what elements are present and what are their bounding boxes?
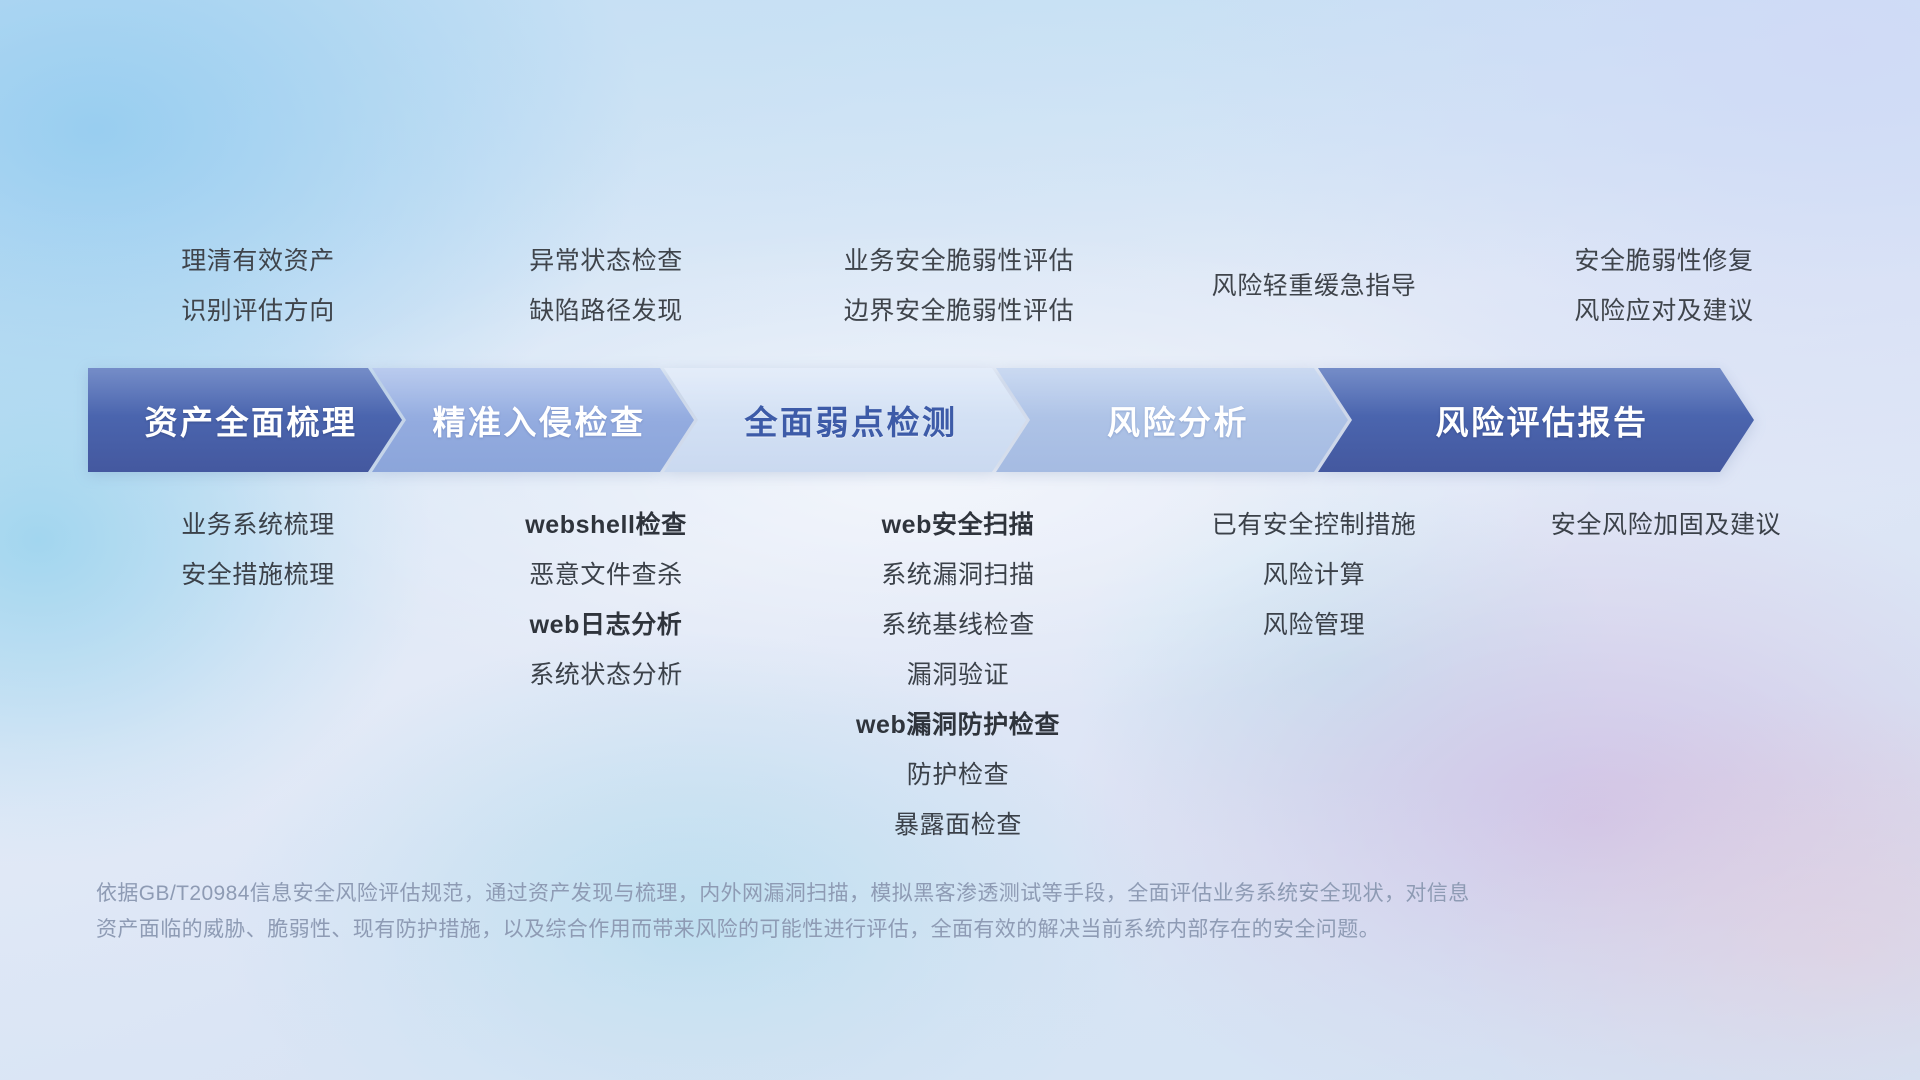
top-note: 业务安全脆弱性评估 — [844, 236, 1074, 286]
stage-chevron-asset-inventory[interactable]: 资产全面梳理 — [88, 368, 402, 472]
top-notes-col-asset-inventory: 理清有效资产 识别评估方向 — [84, 236, 432, 336]
diagram-content: 理清有效资产 识别评估方向 异常状态检查 缺陷路径发现 业务安全脆弱性评估 边界… — [0, 0, 1920, 1080]
bottom-items-col-assessment-report: 安全风险加固及建议 — [1492, 500, 1840, 550]
top-notes-col-intrusion-check: 异常状态检查 缺陷路径发现 — [432, 236, 780, 336]
stage-chevron-assessment-report[interactable]: 风险评估报告 — [1318, 368, 1754, 472]
list-item: 暴露面检查 — [894, 800, 1022, 850]
stage-label: 资产全面梳理 — [145, 396, 358, 444]
bottom-items-col-risk-analysis: 已有安全控制措施 风险计算 风险管理 — [1140, 500, 1488, 650]
list-item: 已有安全控制措施 — [1212, 500, 1417, 550]
bottom-items-col-weakness-detection: web安全扫描 系统漏洞扫描 系统基线检查 漏洞验证 web漏洞防护检查 防护检… — [784, 500, 1132, 850]
stage-label: 全面弱点检测 — [745, 396, 958, 444]
list-item: 系统基线检查 — [881, 600, 1035, 650]
list-item: 系统漏洞扫描 — [881, 550, 1035, 600]
top-note: 风险轻重缓急指导 — [1212, 261, 1417, 311]
list-item: 风险管理 — [1263, 600, 1365, 650]
top-note: 识别评估方向 — [181, 286, 335, 336]
list-item: 恶意文件查杀 — [529, 550, 683, 600]
top-notes-col-risk-analysis: 风险轻重缓急指导 — [1140, 261, 1488, 361]
list-item: 风险计算 — [1263, 550, 1365, 600]
list-item: web漏洞防护检查 — [856, 700, 1060, 750]
stage-chevron-intrusion-check[interactable]: 精准入侵检查 — [372, 368, 694, 472]
list-item: 漏洞验证 — [907, 650, 1009, 700]
list-item: 安全措施梳理 — [181, 550, 335, 600]
list-item: 安全风险加固及建议 — [1551, 500, 1781, 550]
stage-label: 精准入侵检查 — [433, 396, 646, 444]
list-item: web日志分析 — [530, 600, 683, 650]
list-item: webshell检查 — [525, 500, 687, 550]
stage-label: 风险评估报告 — [1436, 396, 1649, 444]
slide-canvas: 理清有效资产 识别评估方向 异常状态检查 缺陷路径发现 业务安全脆弱性评估 边界… — [0, 0, 1920, 1080]
bottom-items-col-asset-inventory: 业务系统梳理 安全措施梳理 — [84, 500, 432, 600]
top-note: 异常状态检查 — [529, 236, 683, 286]
footer-line-2: 资产面临的威胁、脆弱性、现有防护措施，以及综合作用而带来风险的可能性进行评估，全… — [96, 912, 1616, 948]
list-item: 业务系统梳理 — [181, 500, 335, 550]
stage-label: 风险分析 — [1107, 396, 1249, 444]
stage-chevron-risk-analysis[interactable]: 风险分析 — [996, 368, 1348, 472]
list-item: 防护检查 — [907, 750, 1009, 800]
top-notes-col-weakness-detection: 业务安全脆弱性评估 边界安全脆弱性评估 — [785, 236, 1133, 336]
top-note: 风险应对及建议 — [1574, 286, 1753, 336]
top-notes-col-assessment-report: 安全脆弱性修复 风险应对及建议 — [1490, 236, 1838, 336]
process-arrow-band: 资产全面梳理 精准入侵检查 全面弱点检测 风险分析 风险评估报告 — [88, 368, 1844, 472]
top-note: 边界安全脆弱性评估 — [844, 286, 1074, 336]
footer-line-1: 依据GB/T20984信息安全风险评估规范，通过资产发现与梳理，内外网漏洞扫描，… — [96, 876, 1616, 912]
bottom-items-col-intrusion-check: webshell检查 恶意文件查杀 web日志分析 系统状态分析 — [432, 500, 780, 700]
footer-description: 依据GB/T20984信息安全风险评估规范，通过资产发现与梳理，内外网漏洞扫描，… — [96, 876, 1616, 948]
stage-chevron-weakness-detection[interactable]: 全面弱点检测 — [664, 368, 1026, 472]
bottom-items-row: 业务系统梳理 安全措施梳理 webshell检查 恶意文件查杀 web日志分析 … — [92, 500, 1832, 850]
top-note: 缺陷路径发现 — [529, 286, 683, 336]
list-item: web安全扫描 — [882, 500, 1035, 550]
top-notes-row: 理清有效资产 识别评估方向 异常状态检查 缺陷路径发现 业务安全脆弱性评估 边界… — [92, 236, 1832, 336]
top-note: 理清有效资产 — [181, 236, 335, 286]
top-note: 安全脆弱性修复 — [1574, 236, 1753, 286]
list-item: 系统状态分析 — [529, 650, 683, 700]
